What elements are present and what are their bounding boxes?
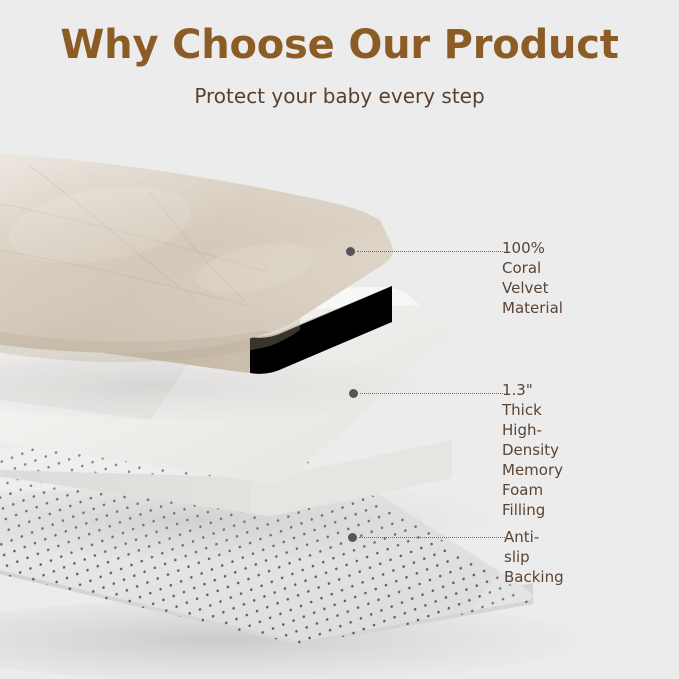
callout-label-anti-slip: Anti-slip Backing bbox=[504, 527, 564, 587]
callout-leader-line bbox=[360, 393, 503, 394]
callout-label-coral-velvet: 100% Coral Velvet Material bbox=[502, 238, 563, 318]
coral-velvet-cover-layer bbox=[0, 150, 420, 420]
callout-leader-line bbox=[359, 537, 505, 538]
callout-dot-icon bbox=[348, 533, 357, 542]
callout-dot-icon bbox=[349, 389, 358, 398]
callout-dot-icon bbox=[346, 247, 355, 256]
callout-leader-line bbox=[357, 251, 503, 252]
callout-label-memory-foam: 1.3" Thick High-Density Memory Foam Fill… bbox=[502, 380, 563, 520]
header: Why Choose Our Product Protect your baby… bbox=[0, 0, 679, 108]
page-subtitle: Protect your baby every step bbox=[0, 68, 679, 108]
product-infographic: Why Choose Our Product Protect your baby… bbox=[0, 0, 679, 679]
page-title: Why Choose Our Product bbox=[0, 0, 679, 68]
